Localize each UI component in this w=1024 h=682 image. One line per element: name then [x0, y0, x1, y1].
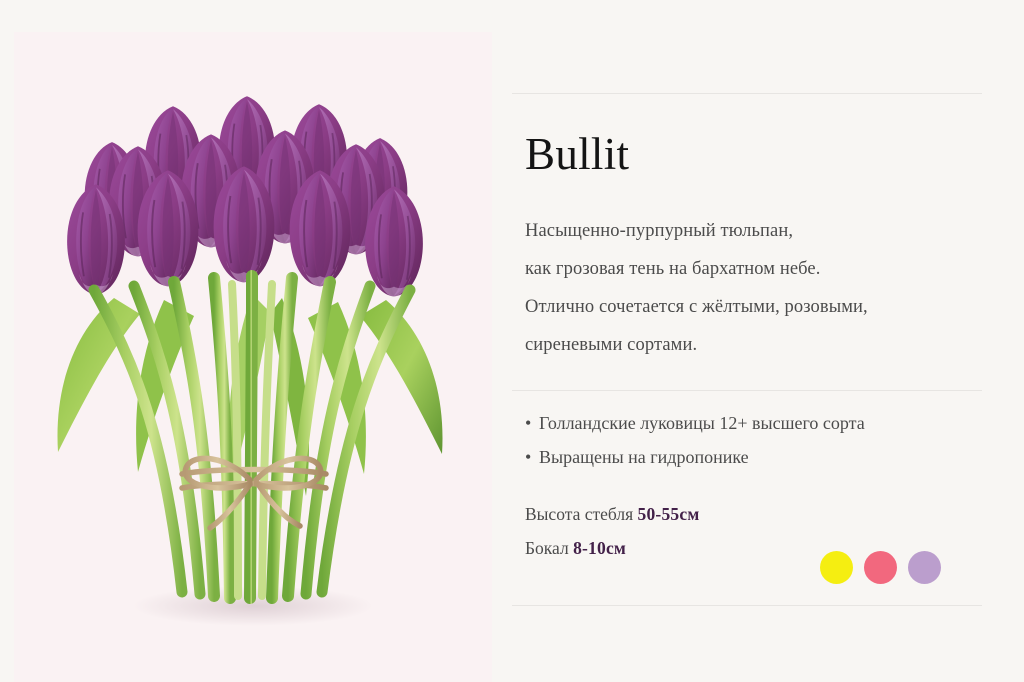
swatch-pink[interactable] — [864, 551, 897, 584]
product-description: Насыщенно-пурпурный тюльпан, как грозова… — [525, 212, 985, 364]
feature-text: Голландские луковицы 12+ высшего сорта — [539, 413, 865, 433]
spec-value: 8-10см — [573, 538, 626, 558]
description-line: Насыщенно-пурпурный тюльпан, — [525, 212, 985, 250]
swatch-lilac[interactable] — [908, 551, 941, 584]
swatch-yellow[interactable] — [820, 551, 853, 584]
description-line: как грозовая тень на бархатном небе. — [525, 250, 985, 288]
product-image-panel — [14, 32, 492, 682]
spec-row-stem-height: Высота стебля 50-55см — [525, 497, 905, 531]
feature-list: •Голландские луковицы 12+ высшего сорта … — [525, 406, 985, 474]
page-title: Bullit — [525, 131, 629, 178]
bullet-icon: • — [525, 406, 539, 440]
color-swatch-group — [820, 551, 941, 584]
divider-top — [512, 93, 982, 94]
bullet-icon: • — [525, 440, 539, 474]
list-item: •Голландские луковицы 12+ высшего сорта — [525, 406, 985, 440]
list-item: •Выращены на гидропонике — [525, 440, 985, 474]
spec-label: Бокал — [525, 538, 569, 558]
bouquet-illustration — [14, 32, 492, 682]
description-line: сиреневыми сортами. — [525, 326, 985, 364]
divider-bottom — [512, 605, 982, 606]
spec-value: 50-55см — [638, 504, 700, 524]
purple-tulip-bouquet-image — [14, 32, 492, 682]
description-line: Отлично сочетается с жёлтыми, розовыми, — [525, 288, 985, 326]
spec-label: Высота стебля — [525, 504, 633, 524]
feature-text: Выращены на гидропонике — [539, 447, 749, 467]
divider-middle — [512, 390, 982, 391]
